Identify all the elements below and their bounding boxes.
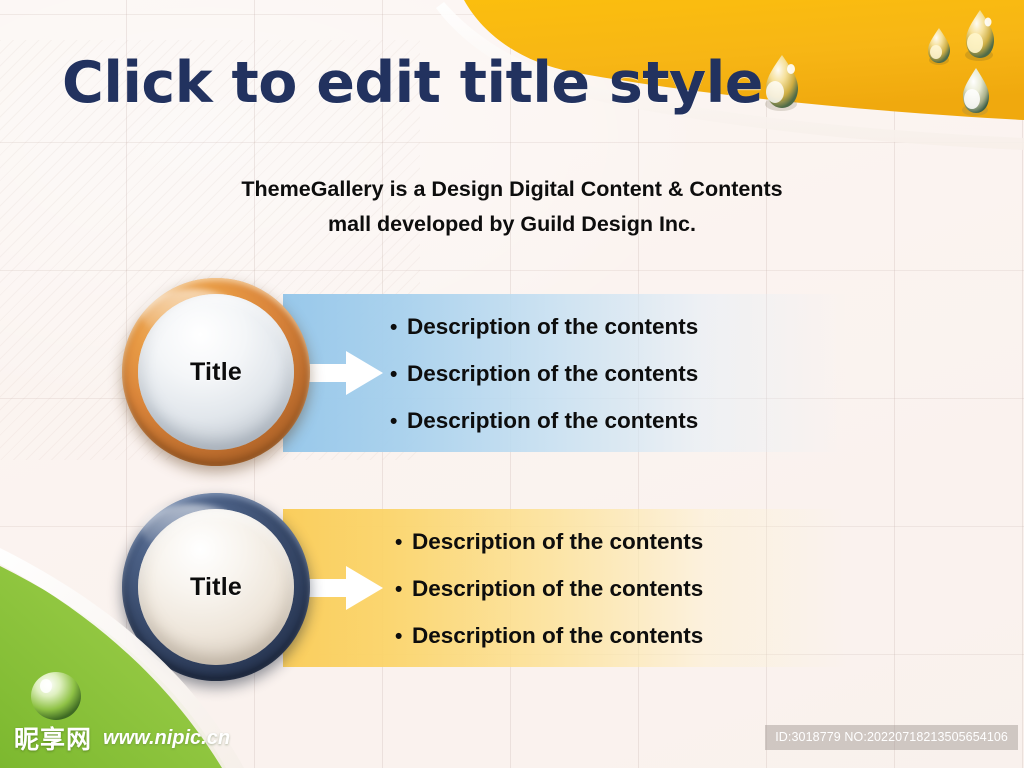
subtitle-line-2: mall developed by Guild Design Inc.	[120, 207, 904, 242]
watermark-url: www.nipic.cn	[103, 727, 230, 750]
page-title[interactable]: Click to edit title style	[62, 54, 763, 114]
content-row-1: Title Description of the contents Descri…	[0, 278, 1024, 483]
water-droplet-icon	[760, 52, 804, 114]
image-id-band: ID:3018779 NO:20220718213505654106	[765, 725, 1018, 750]
badge-inner-sphere: Title	[138, 294, 294, 450]
water-droplet-icon	[925, 26, 953, 66]
water-droplet-icon	[958, 66, 994, 118]
list-item[interactable]: Description of the contents	[395, 566, 703, 613]
list-item[interactable]: Description of the contents	[395, 613, 703, 660]
bullet-list-2: Description of the contents Description …	[395, 519, 703, 660]
list-item[interactable]: Description of the contents	[395, 519, 703, 566]
water-droplet-icon	[28, 664, 84, 724]
watermark: 昵享网 www.nipic.cn	[14, 720, 230, 756]
bullet-list-1: Description of the contents Description …	[390, 304, 698, 445]
watermark-logo: 昵享网	[14, 720, 92, 756]
list-item[interactable]: Description of the contents	[390, 351, 698, 398]
subtitle-text[interactable]: ThemeGallery is a Design Digital Content…	[0, 172, 1024, 242]
slide-canvas: Click to edit title style ThemeGallery i…	[0, 0, 1024, 768]
subtitle-line-1: ThemeGallery is a Design Digital Content…	[120, 172, 904, 207]
badge-label: Title	[190, 358, 242, 387]
image-id-text: ID:3018779 NO:20220718213505654106	[775, 730, 1008, 744]
list-item[interactable]: Description of the contents	[390, 304, 698, 351]
water-droplet-icon	[960, 8, 1000, 64]
right-arrow-icon	[300, 348, 384, 398]
title-badge-orange[interactable]: Title	[122, 278, 310, 466]
list-item[interactable]: Description of the contents	[390, 398, 698, 445]
